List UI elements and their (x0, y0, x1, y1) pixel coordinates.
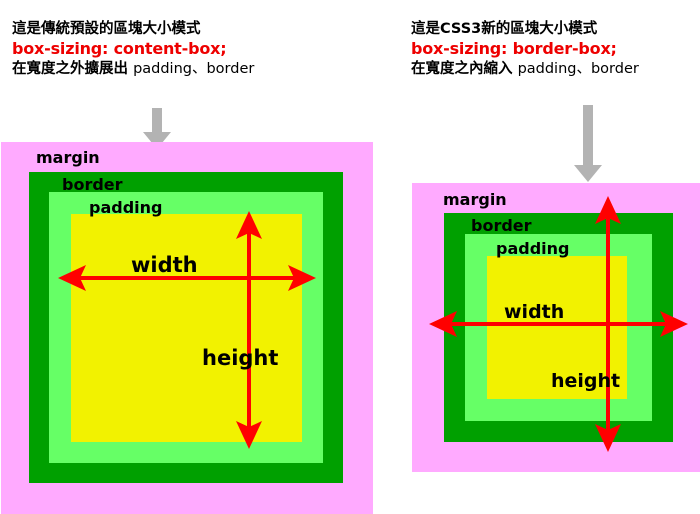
caption-left-code: box-sizing: content-box; (12, 39, 254, 60)
caption-left-line3: 在寬度之外擴展出 padding、border (12, 60, 254, 79)
caption-left-line3-light: padding、border (133, 61, 254, 77)
left-border-label: border (62, 177, 123, 193)
left-content-area (71, 214, 302, 442)
caption-right: 這是CSS3新的區塊大小模式 box-sizing: border-box; 在… (411, 20, 639, 78)
left-width-label: width (131, 255, 198, 276)
left-height-label: height (202, 348, 278, 369)
caption-right-line1: 這是CSS3新的區塊大小模式 (411, 20, 639, 39)
caption-right-line3-light: padding、border (518, 61, 639, 77)
left-height-arrow-icon (233, 211, 265, 449)
left-margin-label: margin (36, 150, 100, 166)
left-padding-label: padding (89, 200, 162, 216)
right-height-label: height (551, 372, 620, 391)
caption-left: 這是傳統預設的區塊大小模式 box-sizing: content-box; 在… (12, 20, 254, 78)
caption-right-line3: 在寬度之內縮入 padding、border (411, 60, 639, 79)
caption-right-code: box-sizing: border-box; (411, 39, 639, 60)
right-height-arrow-icon (592, 196, 624, 452)
right-width-label: width (504, 303, 564, 322)
caption-right-line3-bold: 在寬度之內縮入 (411, 61, 513, 77)
right-border-label: border (471, 218, 532, 234)
caption-left-line1: 這是傳統預設的區塊大小模式 (12, 20, 254, 39)
flow-arrow-down-icon-right (571, 105, 605, 183)
right-margin-label: margin (443, 192, 507, 208)
caption-left-line3-bold: 在寬度之外擴展出 (12, 61, 128, 77)
right-padding-label: padding (496, 241, 569, 257)
